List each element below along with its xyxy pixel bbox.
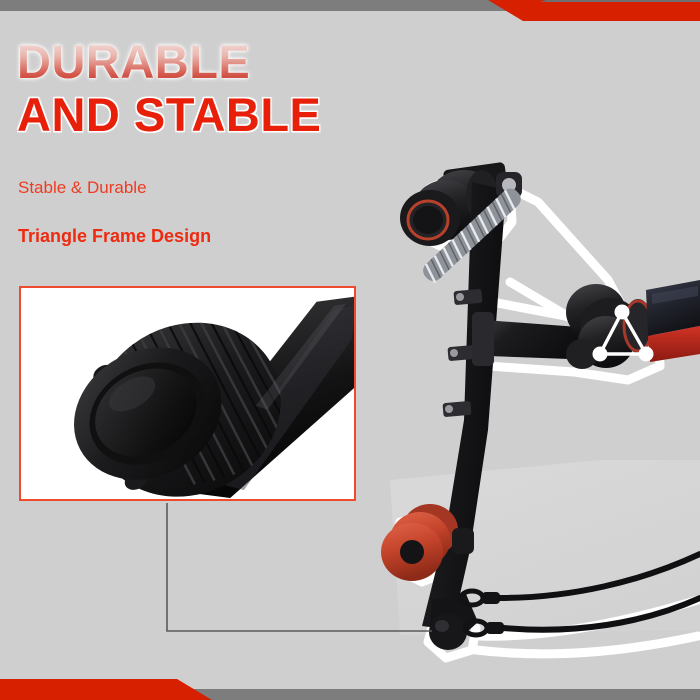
end-cap-illustration	[21, 288, 354, 499]
marketing-banner: DURABLE AND STABLE Stable & Durable Tria…	[0, 0, 700, 700]
product-image	[360, 130, 700, 670]
top-right-red-wedge	[488, 0, 700, 23]
detail-inset-photo	[19, 286, 356, 501]
bottom-left-red-wedge	[0, 677, 212, 700]
headline-line-1: DURABLE	[17, 38, 321, 85]
headline-line-2: AND STABLE	[17, 91, 321, 138]
subtitle-triangle-frame-design: Triangle Frame Design	[18, 226, 211, 247]
bench-seat	[646, 280, 700, 362]
subtitle-stable-durable: Stable & Durable	[18, 178, 147, 198]
exercise-bench-illustration	[360, 130, 700, 670]
headline-block: DURABLE AND STABLE	[17, 38, 321, 138]
